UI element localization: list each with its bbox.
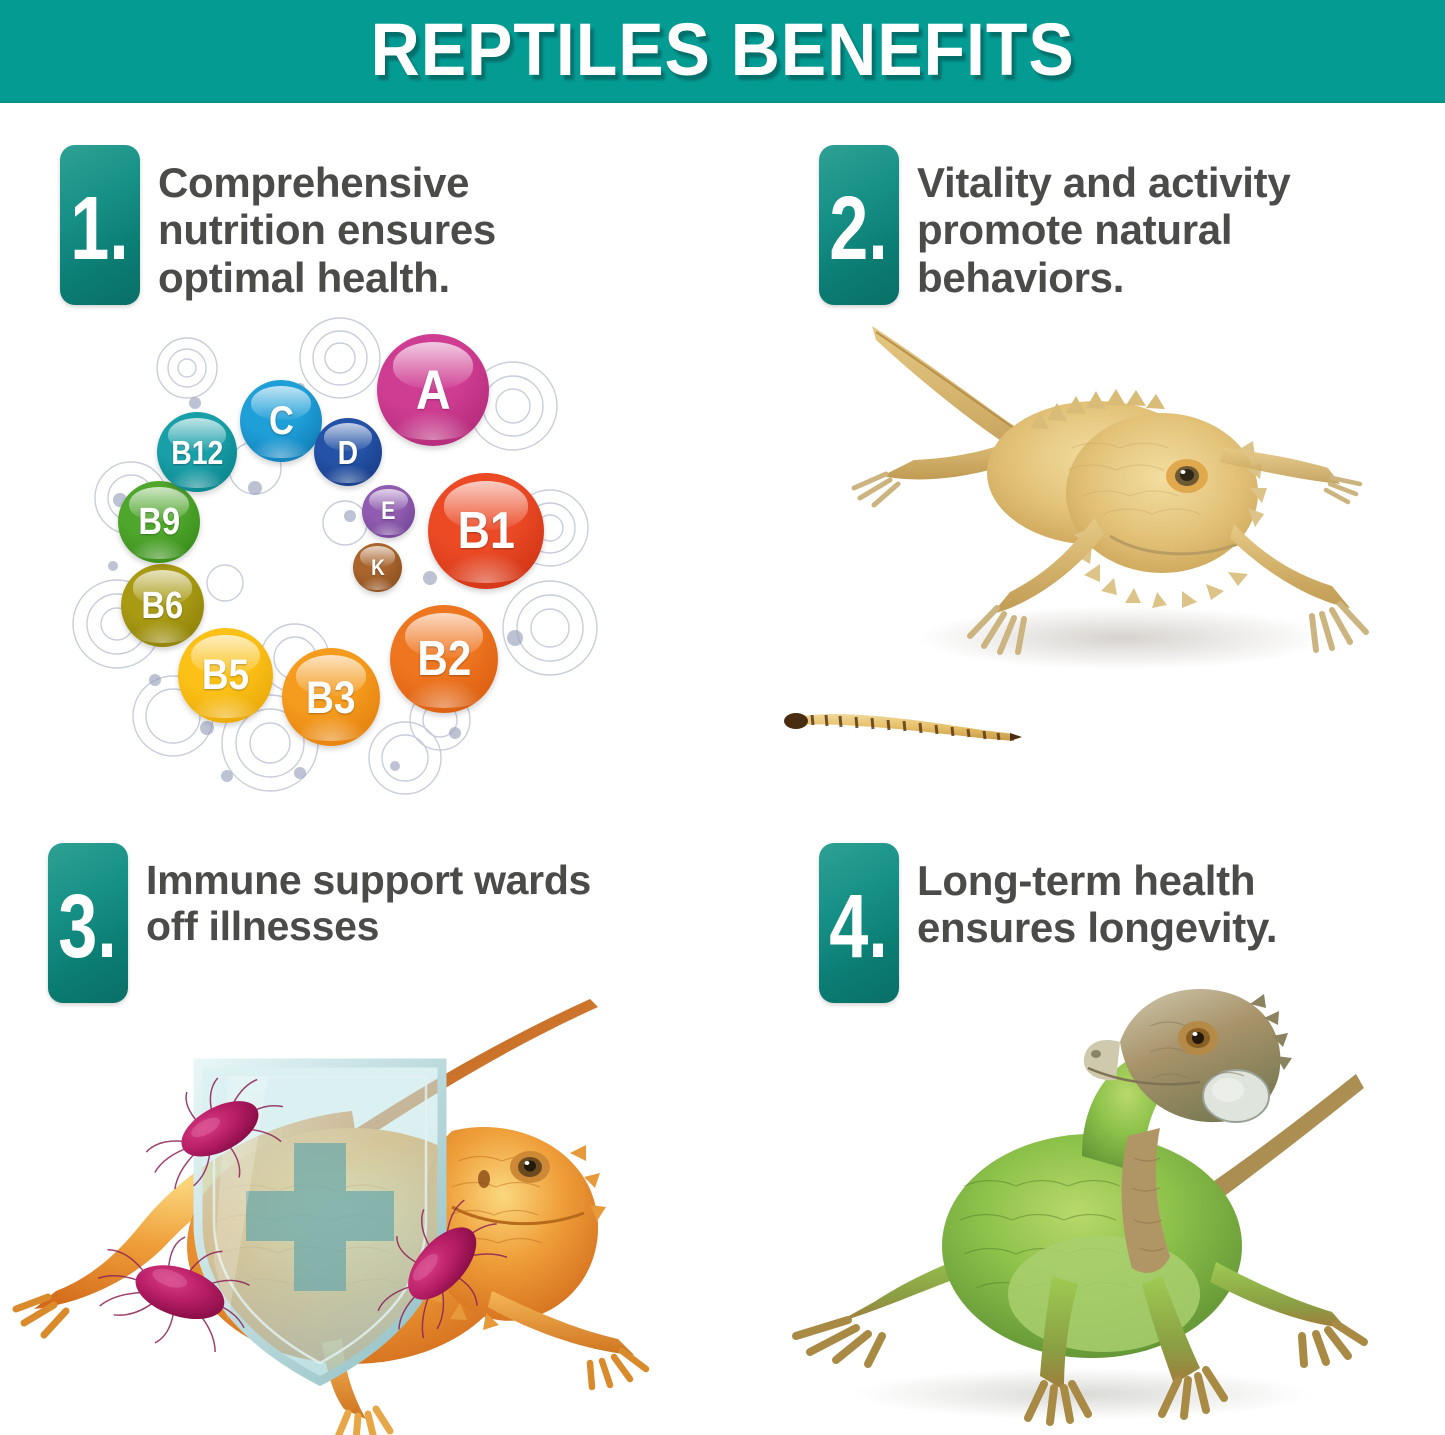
vitamin-wheel-illustration: ACDEKB1B2B3B5B6B9B12 <box>95 328 595 808</box>
benefit-text-2: Vitality and activity promote natural be… <box>917 145 1290 301</box>
benefit-number-1: 1. <box>71 184 130 274</box>
benefit-panel-1: 1. Comprehensive nutrition ensures optim… <box>0 103 722 821</box>
vitamin-bubble-label: B6 <box>142 587 184 625</box>
benefit-heading-3: 3. Immune support wards off illnesses <box>48 843 591 1003</box>
vitamin-bubble-label: K <box>371 557 385 579</box>
vitamin-bubble-label: B12 <box>171 436 223 469</box>
benefit-number-badge-1: 1. <box>60 145 140 305</box>
vitamin-bubble-a: A <box>377 334 489 446</box>
vitamin-bubble-label: A <box>416 362 451 418</box>
benefit-panel-4: 4. Long-term health ensures longevity. <box>722 821 1445 1435</box>
shielded-bearded-dragon-photo <box>22 991 642 1421</box>
vitamin-bubble-label: B1 <box>457 505 514 557</box>
benefit-panel-2: 2. Vitality and activity promote natural… <box>722 103 1445 821</box>
vitamin-bubble-k: K <box>353 543 402 592</box>
benefit-heading-1: 1. Comprehensive nutrition ensures optim… <box>60 145 496 305</box>
benefit-panel-3: 3. Immune support wards off illnesses <box>0 821 722 1435</box>
vitamin-bubble-label: B9 <box>138 503 180 541</box>
vitamin-bubble-b5: B5 <box>178 628 273 723</box>
benefit-number-3: 3. <box>59 882 118 972</box>
benefit-number-badge-3: 3. <box>48 843 128 1003</box>
vitamin-bubble-b6: B6 <box>121 564 204 647</box>
vitamin-bubble-label: B3 <box>306 675 355 720</box>
page-title: REPTILES BENEFITS <box>370 13 1074 87</box>
vitamin-bubble-b2: B2 <box>390 605 498 713</box>
vitamin-bubble-label: E <box>381 499 395 524</box>
vitamin-bubble-label: C <box>269 401 294 441</box>
vitamin-bubble-label: B5 <box>202 654 249 697</box>
vitamin-bubble-b3: B3 <box>282 648 380 746</box>
vitamin-bubble-label: B2 <box>417 635 471 684</box>
benefit-number-4: 4. <box>830 882 889 972</box>
benefit-heading-2: 2. Vitality and activity promote natural… <box>819 145 1290 305</box>
benefit-number-badge-2: 2. <box>819 145 899 305</box>
benefit-text-3: Immune support wards off illnesses <box>146 843 591 950</box>
vitamin-bubble-b1: B1 <box>428 473 544 589</box>
vitamin-bubble-b12: B12 <box>157 412 237 492</box>
header-bar: REPTILES BENEFITS <box>0 0 1445 103</box>
mealworm-photo <box>782 703 1027 745</box>
vitamin-bubble-c: C <box>240 380 322 462</box>
benefit-number-2: 2. <box>830 184 889 274</box>
vitamin-bubble-e: E <box>362 485 415 538</box>
vitamin-bubble-b9: B9 <box>118 481 200 563</box>
bearded-dragon-photo <box>842 308 1382 678</box>
benefits-grid: 1. Comprehensive nutrition ensures optim… <box>0 103 1445 1435</box>
green-iguana-photo <box>752 976 1372 1426</box>
vitamin-bubble-label: D <box>338 436 359 469</box>
benefit-text-1: Comprehensive nutrition ensures optimal … <box>158 145 496 301</box>
vitamin-bubble-d: D <box>314 418 382 486</box>
benefit-text-4: Long-term health ensures longevity. <box>917 843 1277 952</box>
